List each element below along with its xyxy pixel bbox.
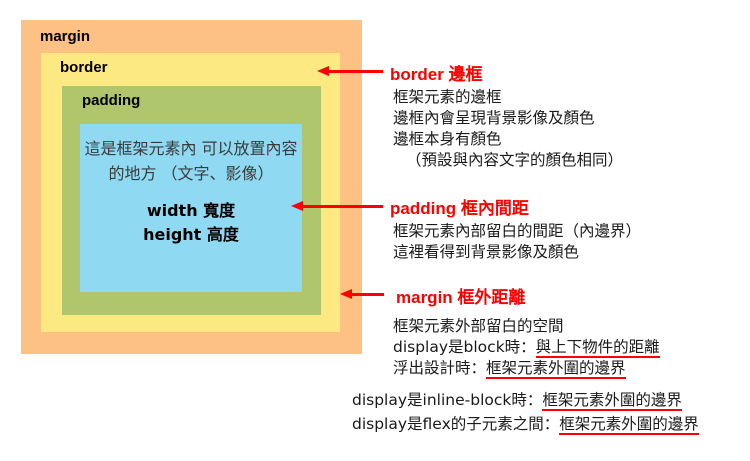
annotation-body-margin: 框架元素外部留白的空間 display是block時：與上下物件的距離 浮出設計…: [393, 316, 660, 379]
border-box-label: border: [60, 59, 108, 76]
content-box: 這是框架元素內 可以放置內容的地方 （文字、影像） width 寬度 heigh…: [80, 124, 302, 292]
arrow-shaft: [326, 70, 383, 73]
padding-box: padding 這是框架元素內 可以放置內容的地方 （文字、影像） width …: [62, 86, 321, 315]
bottom-notes: display是inline-block時：框架元素外圍的邊界 display是…: [352, 388, 699, 436]
annotation-margin-line-2: display是block時：與上下物件的距離: [393, 337, 660, 358]
border-box: border padding 這是框架元素內 可以放置內容的地方 （文字、影像）…: [41, 53, 340, 332]
arrow-to-padding-icon: [291, 201, 383, 213]
annotation-margin-line-3: 浮出設計時：框架元素外圍的邊界: [393, 358, 660, 379]
annotation-border-line-2: 邊框內會呈現背景影像及顏色: [393, 108, 623, 129]
annotation-margin-line-3-underlined: 框架元素外圍的邊界: [486, 359, 626, 379]
annotation-border-line-1: 框架元素的邊框: [393, 87, 623, 108]
content-line-3: （文字、影像）: [162, 164, 274, 183]
arrow-to-margin-icon: [340, 289, 384, 301]
bottom-note-1: display是inline-block時：框架元素外圍的邊界: [352, 388, 699, 412]
padding-box-label: padding: [82, 92, 140, 109]
content-height-label: height 高度: [80, 223, 302, 247]
bottom-note-2: display是flex的子元素之間：框架元素外圍的邊界: [352, 412, 699, 436]
annotation-margin-line-3-prefix: 浮出設計時：: [393, 359, 486, 377]
bottom-note-2-underlined: 框架元素外圍的邊界: [559, 415, 699, 435]
bottom-note-1-prefix: display是inline-block時：: [352, 391, 542, 409]
content-box-text: 這是框架元素內 可以放置內容的地方 （文字、影像） width 寬度 heigh…: [80, 136, 302, 247]
annotation-padding-line-1: 框架元素內部留白的間距（內邊界）: [393, 221, 641, 242]
annotation-margin-line-2-underlined: 與上下物件的距離: [536, 338, 660, 358]
arrow-to-border-icon: [317, 66, 383, 78]
bottom-note-2-prefix: display是flex的子元素之間：: [352, 415, 559, 433]
arrow-shaft: [349, 293, 384, 296]
css-box-model-illustration: margin border padding 這是框架元素內 可以放置內容的地方 …: [0, 0, 750, 461]
annotation-heading-margin: margin 框外距離: [396, 283, 525, 308]
annotation-body-border: 框架元素的邊框 邊框內會呈現背景影像及顏色 邊框本身有顏色 （預設與內容文字的顏…: [393, 87, 623, 171]
annotation-padding-line-2: 這裡看得到背景影像及顏色: [393, 242, 641, 263]
content-width-label: width 寬度: [80, 199, 302, 223]
margin-box: margin border padding 這是框架元素內 可以放置內容的地方 …: [21, 20, 362, 354]
annotation-body-padding: 框架元素內部留白的間距（內邊界） 這裡看得到背景影像及顏色: [393, 221, 641, 263]
bottom-note-1-underlined: 框架元素外圍的邊界: [542, 391, 682, 411]
annotation-heading-padding: padding 框內間距: [390, 194, 529, 219]
annotation-margin-line-2-prefix: display是block時：: [393, 338, 536, 356]
arrow-shaft: [300, 205, 383, 208]
annotation-border-line-3: 邊框本身有顏色: [393, 129, 623, 150]
margin-box-label: margin: [40, 28, 90, 45]
content-line-1: 這是框架元素內: [84, 139, 196, 158]
annotation-margin-line-1: 框架元素外部留白的空間: [393, 316, 660, 337]
annotation-border-line-4: （預設與內容文字的顏色相同）: [393, 150, 623, 171]
annotation-heading-border: border 邊框: [390, 60, 483, 85]
